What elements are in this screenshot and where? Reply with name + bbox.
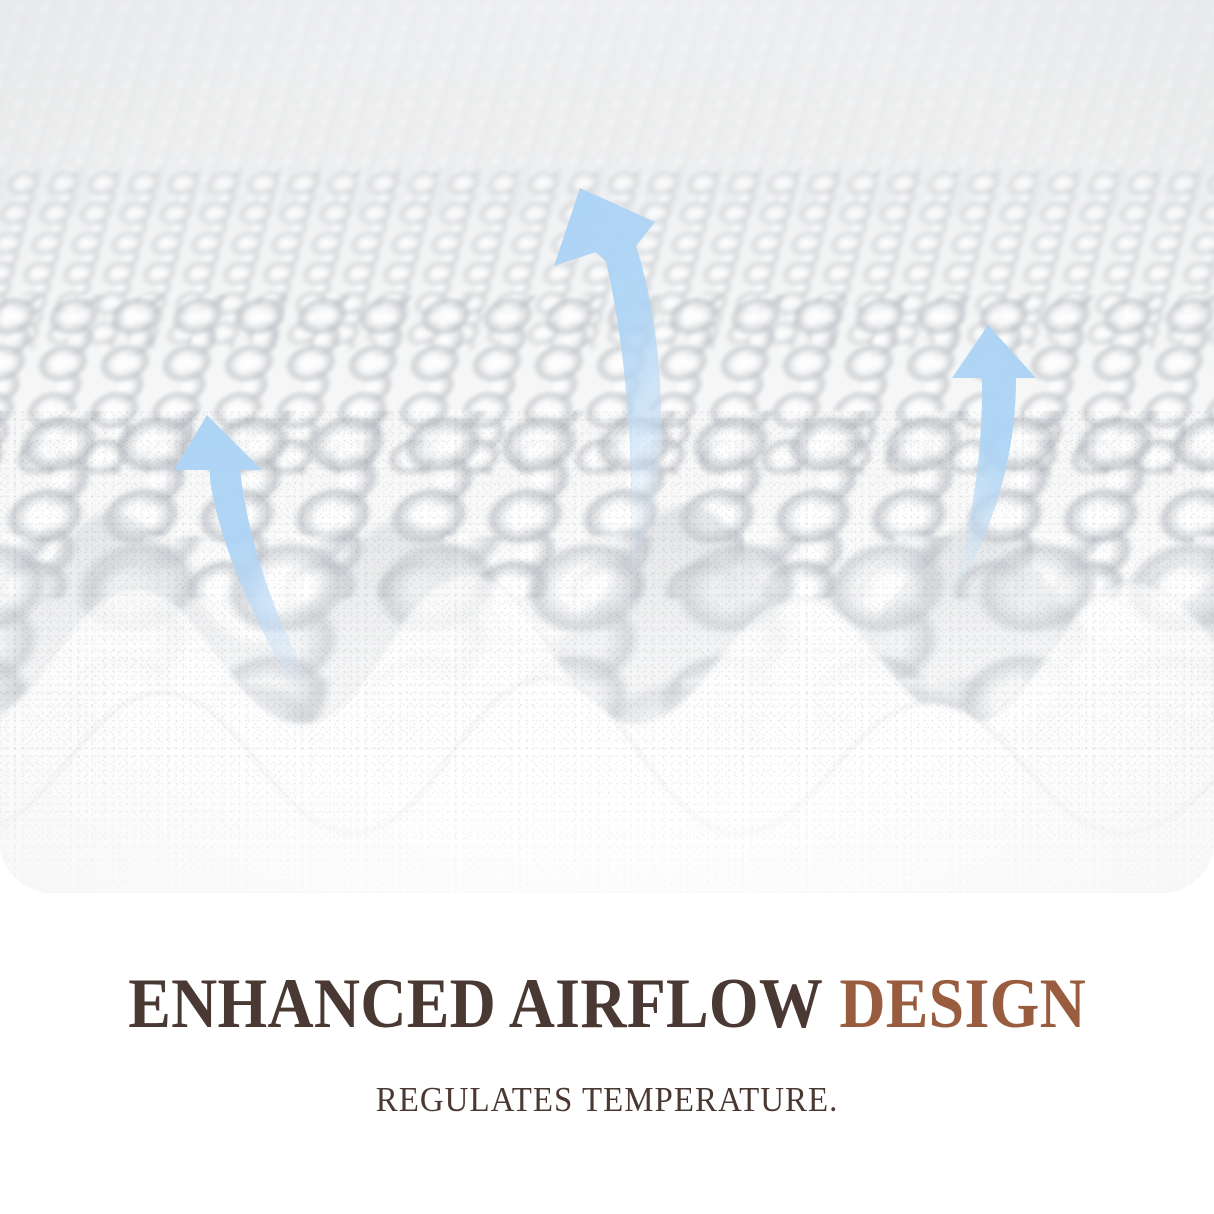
headline: ENHANCED AIRFLOW DESIGN	[128, 893, 1086, 1040]
headline-primary: ENHANCED AIRFLOW	[128, 965, 823, 1043]
product-feature-card: ENHANCED AIRFLOW DESIGN REGULATES TEMPER…	[0, 0, 1214, 1214]
foam-photo-panel	[0, 0, 1214, 893]
headline-accent: DESIGN	[839, 965, 1086, 1043]
headline-space	[823, 965, 839, 1043]
caption-block: ENHANCED AIRFLOW DESIGN REGULATES TEMPER…	[0, 893, 1214, 1214]
subtitle: REGULATES TEMPERATURE.	[376, 1040, 839, 1117]
